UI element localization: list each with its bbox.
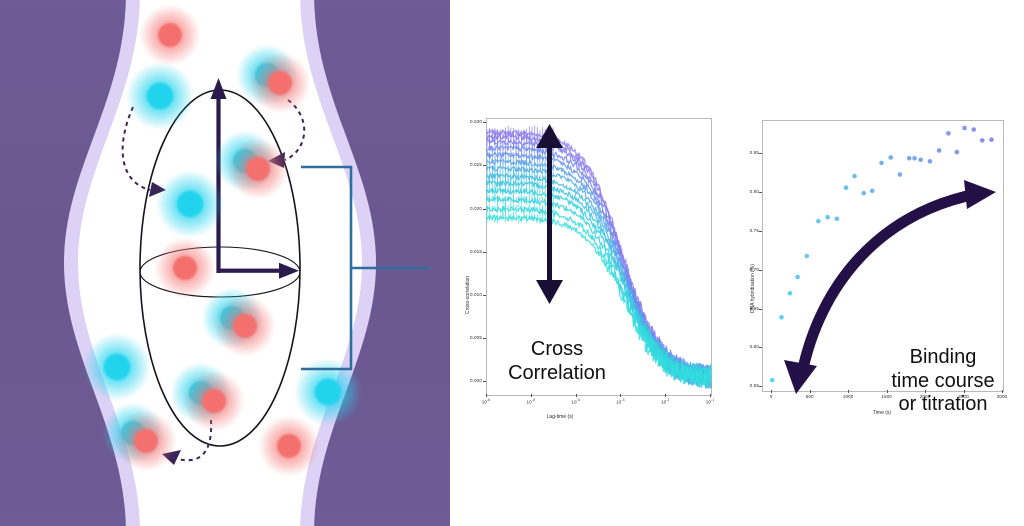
laser-focus-hourglass-right [314,0,450,526]
molecule-core [176,259,194,277]
binding-chart-panel: 0.550.600.650.700.750.800.85050010001500… [740,98,1024,428]
fccs-xtick-mark [531,394,532,397]
fccs-ytick: 0.000 [460,378,482,383]
fccs-ytick-mark [483,209,486,210]
confocal-volume-illustration [0,0,440,526]
fccs-ytick-mark [483,122,486,123]
fccs-xtick-mark [665,394,666,397]
binding-annotation-label: Bindingtime courseor titration [868,346,1018,417]
fccs-ytick-mark [483,165,486,166]
molecule-core [180,194,200,214]
molecule-core [206,393,222,409]
fccs-ytick: 0.005 [460,335,482,340]
fccs-xtick: 10-3 [613,398,627,405]
fccs-ytick-mark [483,252,486,253]
binding-yaxis-title: DNA hybridisation (%) [750,264,756,313]
fccs-xtick: 10-2 [658,398,672,405]
binding-data-point [971,127,976,132]
fccs-xtick: 10-4 [569,398,583,405]
fccs-xtick: 10-5 [524,398,538,405]
molecule-core [107,357,127,377]
fccs-chart-panel: 0.0000.0050.0100.0150.0200.0250.03010-61… [432,96,732,426]
fccs-xtick: 10-6 [479,398,493,405]
fccs-ytick: 0.020 [460,206,482,211]
binding-ytick: 0.75 [742,228,759,233]
binding-ytick: 0.85 [742,150,759,155]
binding-data-point [962,126,967,131]
fccs-xaxis-title: Lag-time (s) [547,414,574,420]
fccs-ytick: 0.010 [460,292,482,297]
fccs-xtick-mark [576,394,577,397]
molecule-core [272,75,288,91]
fccs-ytick-mark [483,381,486,382]
molecule-core [318,382,338,402]
fccs-ytick-mark [483,295,486,296]
fccs-annotation-label: CrossCorrelation [492,338,622,385]
molecule-core [280,437,298,455]
binding-ytick: 0.80 [742,189,759,194]
molecule-core [138,433,154,449]
fccs-ytick: 0.025 [460,162,482,167]
fccs-ytick: 0.015 [460,249,482,254]
fccs-xtick-mark [620,394,621,397]
fccs-ytick-mark [483,338,486,339]
cross-correlation-double-arrow [533,124,569,304]
fccs-yaxis-title: Cross-correlation [465,276,471,314]
molecule-core [237,318,253,334]
molecule-core [161,26,179,44]
binding-ytick: 0.60 [742,344,759,349]
fccs-ytick: 0.030 [460,119,482,124]
molecule-core [150,86,170,106]
molecule-core [250,161,266,177]
figure-root: 0.0000.0050.0100.0150.0200.0250.03010-61… [0,0,1024,526]
fccs-xtick-mark [710,394,711,397]
binding-ytick: 0.55 [742,383,759,388]
fccs-xtick: 10-1 [703,398,717,405]
fccs-xtick-mark [486,394,487,397]
